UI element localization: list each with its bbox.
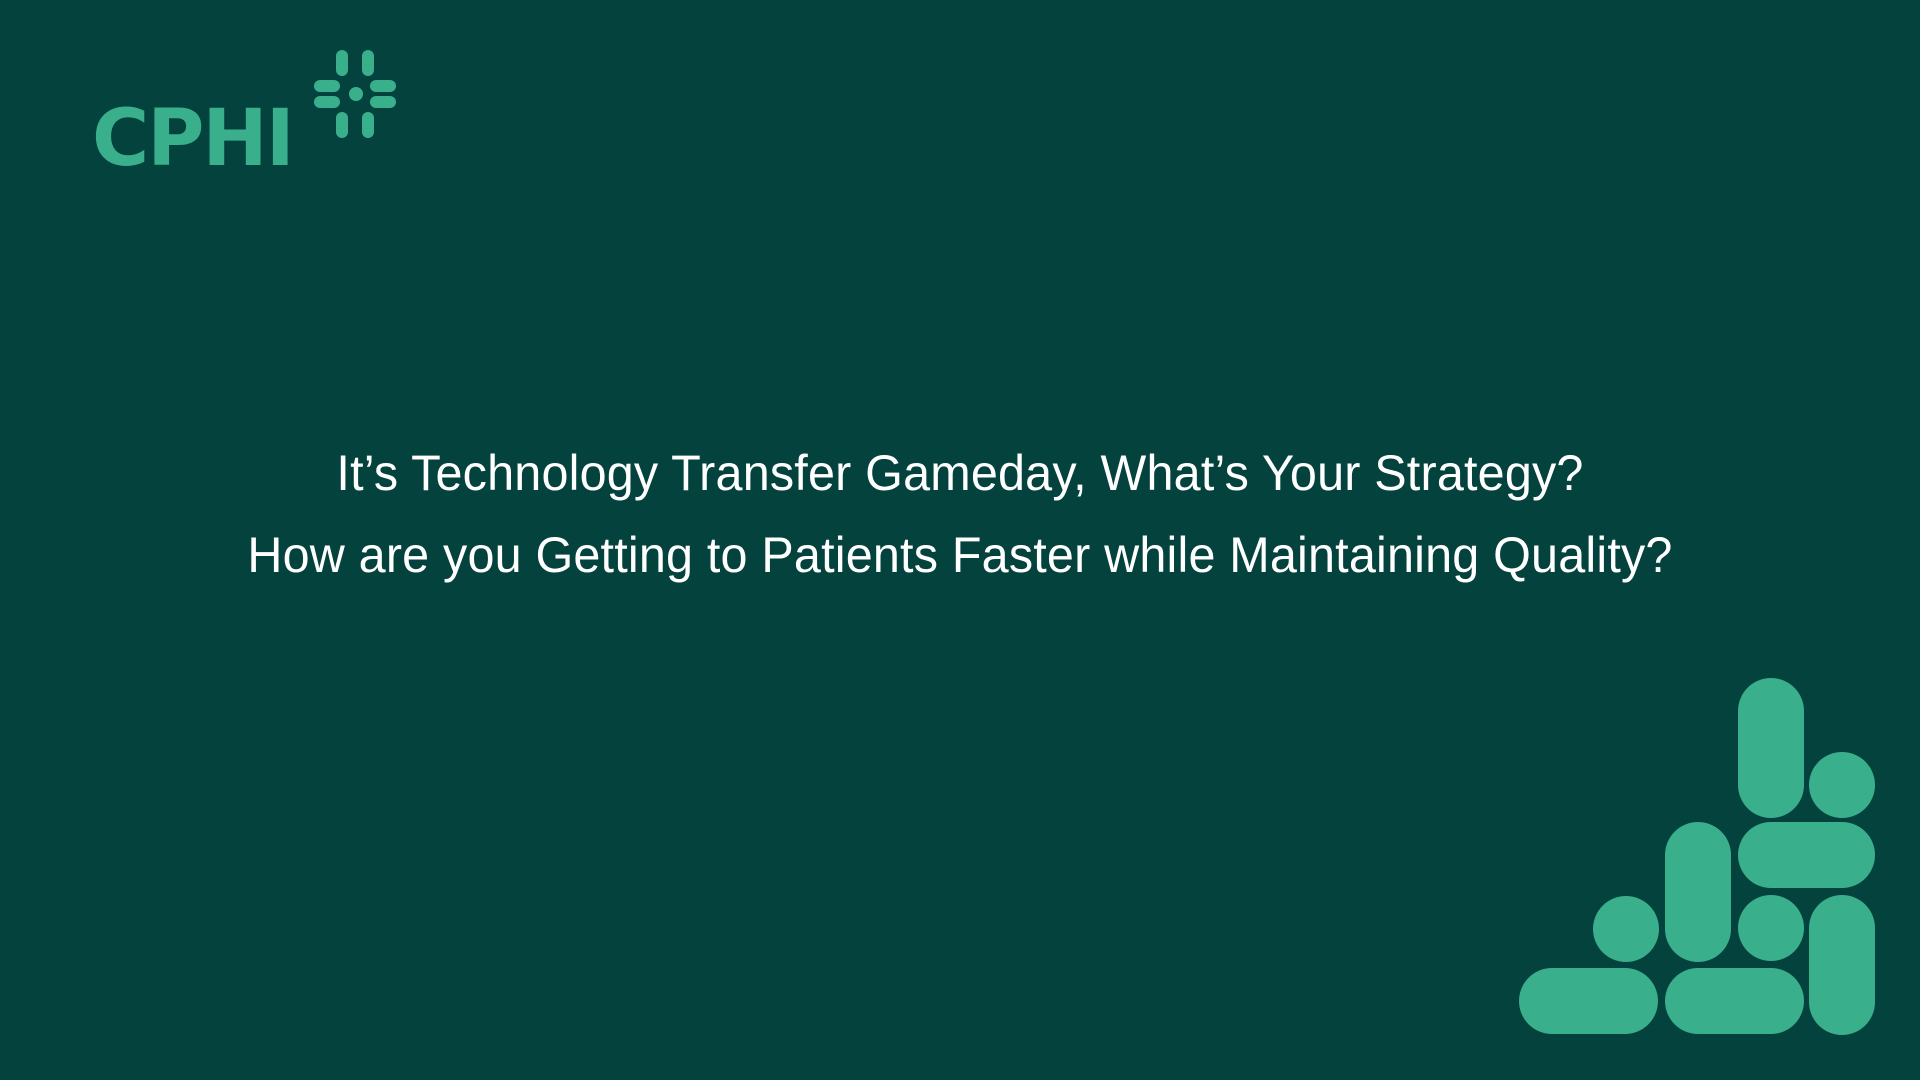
- starburst-right-upper-pill-icon: [370, 80, 396, 92]
- deco-wide-pill-bottom-left: [1519, 968, 1658, 1034]
- cphi-starburst-icon: [314, 48, 400, 138]
- starburst-center-dot-icon: [349, 87, 363, 101]
- starburst-left-lower-pill-icon: [314, 96, 340, 108]
- deco-circle-center: [1738, 895, 1804, 961]
- starburst-right-lower-pill-icon: [370, 96, 396, 108]
- starburst-bottom-right-pill-icon: [362, 112, 374, 138]
- cphi-block-pattern: [1510, 670, 1910, 1050]
- deco-wide-pill-bottom-right: [1665, 968, 1804, 1034]
- headline-line-2: How are you Getting to Patients Faster w…: [29, 514, 1891, 596]
- deco-circle-top-right: [1809, 752, 1875, 818]
- slide-headline: It’s Technology Transfer Gameday, What’s…: [0, 432, 1920, 596]
- starburst-bottom-left-pill-icon: [336, 112, 348, 138]
- deco-tall-pill-mid-left: [1665, 822, 1731, 962]
- deco-circle-lower-left: [1593, 896, 1659, 962]
- starburst-top-right-pill-icon: [362, 50, 374, 76]
- slide-canvas: CPHI It’s Technology Transfer Gameday, W…: [0, 0, 1920, 1080]
- starburst-top-left-pill-icon: [336, 50, 348, 76]
- deco-tall-pill-right: [1809, 895, 1875, 1035]
- cphi-logo[interactable]: CPHI: [92, 48, 412, 168]
- headline-line-1: It’s Technology Transfer Gameday, What’s…: [29, 432, 1891, 514]
- cphi-wordmark: CPHI: [92, 100, 293, 178]
- deco-tall-pill-top: [1738, 678, 1804, 818]
- deco-wide-pill-mid-right: [1738, 822, 1875, 888]
- starburst-left-upper-pill-icon: [314, 80, 340, 92]
